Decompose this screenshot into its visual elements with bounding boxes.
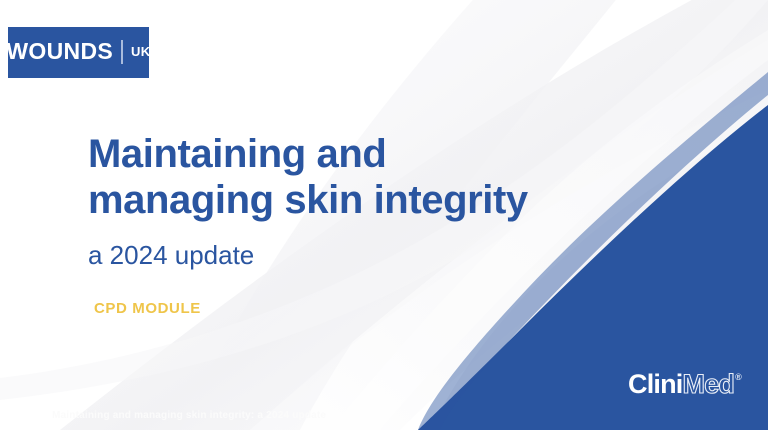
clinimed-logo-med-text: Med	[683, 371, 735, 398]
wounds-uk-logo-sub-text: UK	[131, 45, 151, 58]
wounds-uk-logo: WOUNDS UK	[8, 27, 149, 78]
wounds-uk-logo-main-text: WOUNDS	[6, 40, 113, 63]
slide-subtitle: a 2024 update	[88, 240, 688, 271]
registered-trademark-icon: ®	[735, 373, 742, 382]
clinimed-logo-clini-text: Clini	[628, 371, 683, 398]
clinimed-logo: Clini Med ®	[628, 371, 742, 398]
presentation-slide: WOUNDS UK Maintaining and managing skin …	[0, 0, 768, 430]
slide-title: Maintaining and managing skin integrity	[88, 131, 688, 224]
cpd-module-label: CPD MODULE	[94, 300, 688, 317]
wounds-uk-logo-divider	[121, 40, 123, 64]
title-block: Maintaining and managing skin integrity …	[88, 131, 688, 317]
footer-watermark-text: Maintaining and managing skin integrity:…	[52, 410, 326, 421]
